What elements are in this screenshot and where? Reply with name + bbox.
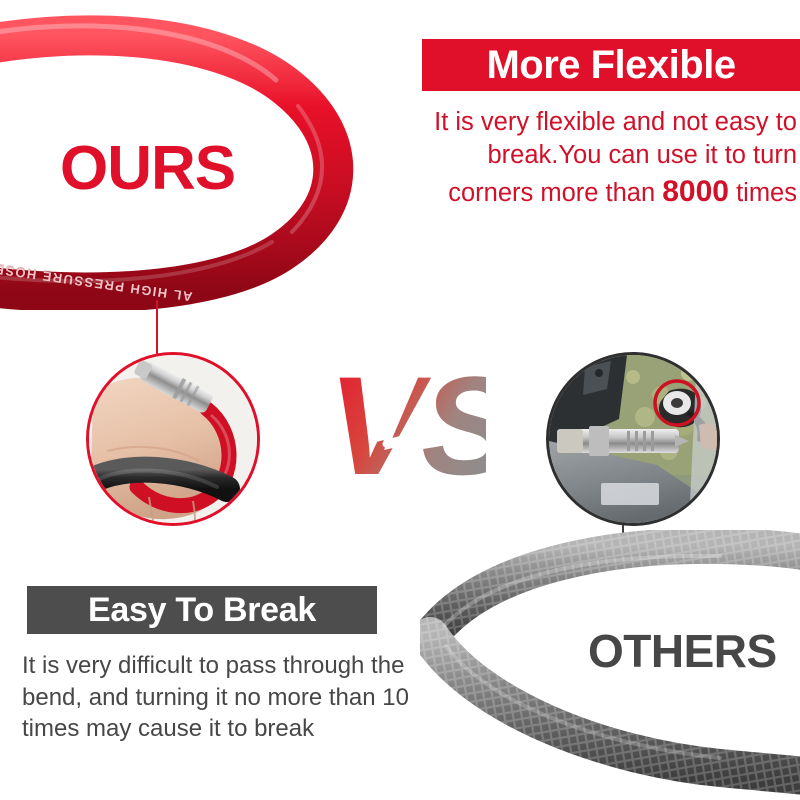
more-flexible-description: It is very flexible and not easy to brea… (405, 106, 797, 211)
flexible-bend-count: 8000 (662, 175, 729, 208)
ours-photo-inset (86, 352, 260, 526)
others-photo-inset (546, 352, 720, 526)
flexible-text-suffix: times (729, 179, 797, 207)
comparison-infographic: 1/4INCH AL HIGH PRESSURE HOSE MAX.40MPA/… (0, 0, 800, 800)
versus-graphic: VS (326, 332, 486, 522)
versus-text: VS (328, 347, 486, 504)
more-flexible-banner-text: More Flexible (486, 45, 735, 85)
others-label: OTHERS (588, 628, 777, 674)
more-flexible-banner: More Flexible (422, 39, 800, 91)
easy-to-break-banner: Easy To Break (27, 586, 377, 634)
easy-to-break-description: It is very difficult to pass through the… (22, 650, 452, 745)
easy-to-break-banner-text: Easy To Break (88, 593, 316, 627)
ours-inset-connector-line (156, 300, 158, 354)
ours-label: OURS (60, 138, 235, 200)
